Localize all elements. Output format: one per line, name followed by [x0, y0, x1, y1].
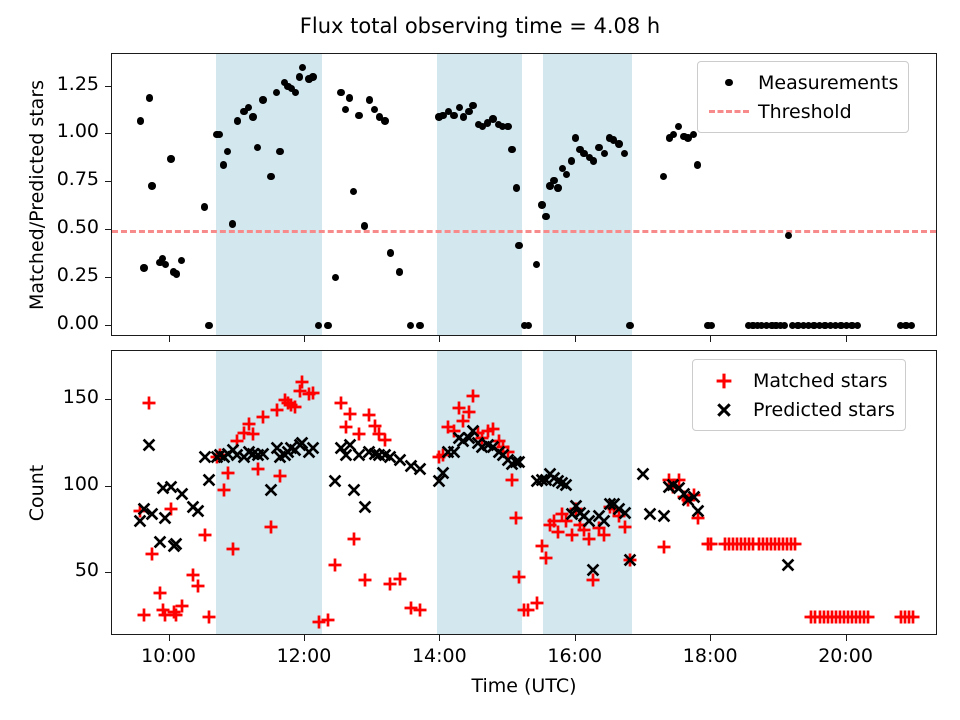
predicted-star-marker	[358, 500, 372, 514]
predicted-star-marker	[636, 467, 650, 481]
measurement-point	[908, 322, 915, 329]
top-y-tick-label: 0.25	[5, 264, 99, 286]
legend-item-threshold: Threshold	[706, 97, 898, 126]
matched-star-marker	[198, 528, 212, 542]
measurement-point	[299, 64, 306, 71]
matched-star-marker	[153, 586, 167, 600]
x-axis-label: Time (UTC)	[111, 675, 937, 697]
predicted-star-marker	[175, 487, 189, 501]
bottom-x-tick-mark	[169, 635, 170, 641]
legend-label-predicted-stars: Predicted stars	[747, 399, 895, 421]
predicted-star-marker	[191, 504, 205, 518]
predicted-star-marker	[512, 455, 526, 469]
top-x-tick-mark	[710, 336, 711, 342]
legend-item-measurements: Measurements	[706, 68, 898, 97]
x-tick-label: 12:00	[244, 645, 364, 667]
top-y-tick-label: 0.00	[5, 312, 99, 334]
measurement-point	[708, 322, 715, 329]
measurement-point	[366, 96, 373, 103]
matched-star-marker	[704, 537, 718, 551]
matched-star-marker	[657, 540, 671, 554]
bottom-y-tick-mark	[105, 399, 111, 400]
top-y-tick-mark	[105, 325, 111, 326]
matched-star-marker	[505, 473, 519, 487]
measurement-point	[332, 274, 339, 281]
measurement-point	[309, 73, 316, 80]
x-tick-label: 14:00	[379, 645, 499, 667]
predicted-star-marker	[687, 490, 701, 504]
measurement-point	[615, 140, 622, 147]
measurement-point	[407, 322, 414, 329]
measurement-point	[533, 261, 540, 268]
x-tick-label: 10:00	[109, 645, 229, 667]
matched-star-marker	[246, 427, 260, 441]
threshold-line	[112, 230, 936, 233]
matched-star-marker	[321, 613, 335, 627]
predicted-star-marker	[597, 514, 611, 528]
legend-label-matched-stars: Matched stars	[747, 370, 887, 392]
legend-label-measurements: Measurements	[752, 72, 898, 94]
measurement-point	[781, 322, 788, 329]
measurement-point	[178, 257, 185, 264]
measurement-point	[601, 150, 608, 157]
top-y-tick-label: 1.00	[5, 120, 99, 142]
measurement-point	[201, 203, 208, 210]
measurement-point	[346, 94, 353, 101]
measurement-point	[660, 173, 667, 180]
measurement-point	[324, 322, 331, 329]
top-y-tick-label: 0.75	[5, 168, 99, 190]
predicted-star-marker	[436, 466, 450, 480]
measurement-point	[292, 89, 299, 96]
measurement-point	[146, 94, 153, 101]
matched-star-marker	[343, 407, 357, 421]
predicted-star-marker	[158, 511, 172, 525]
top-y-tick-mark	[105, 133, 111, 134]
matched-star-marker	[175, 599, 189, 613]
top-y-tick-mark	[105, 86, 111, 87]
top-y-tick-mark	[105, 277, 111, 278]
matched-star-marker	[191, 579, 205, 593]
matched-star-marker	[378, 433, 392, 447]
x-tick-label: 20:00	[786, 645, 906, 667]
matched-star-marker	[328, 558, 342, 572]
top-y-tick-mark	[105, 181, 111, 182]
shaded-span-2	[437, 54, 522, 335]
matched-star-marker	[466, 389, 480, 403]
predicted-star-marker	[306, 441, 320, 455]
measurement-point	[690, 131, 697, 138]
matched-star-marker	[906, 610, 920, 624]
measurement-point	[694, 161, 701, 168]
matched-star-marker	[530, 596, 544, 610]
measurement-point	[140, 264, 147, 271]
measurements-dot-icon	[706, 79, 752, 86]
measurement-point	[350, 188, 357, 195]
predicted-star-marker	[559, 478, 573, 492]
shaded-span-1	[216, 54, 322, 335]
matched-star-marker	[358, 573, 372, 587]
matched-star-marker	[539, 551, 553, 565]
measurement-point	[234, 117, 241, 124]
matched-plus-icon	[701, 372, 747, 390]
predicted-star-marker	[618, 506, 632, 520]
x-tick-label: 16:00	[515, 645, 635, 667]
measurement-point	[296, 73, 303, 80]
predicted-star-marker	[623, 553, 637, 567]
measurement-point	[785, 232, 792, 239]
top-panel-legend[interactable]: Measurements Threshold	[697, 61, 909, 133]
measurement-point	[513, 184, 520, 191]
legend-item-predicted-stars: Predicted stars	[701, 395, 895, 424]
measurement-point	[148, 182, 155, 189]
measurement-point	[342, 106, 349, 113]
predicted-star-marker	[781, 558, 795, 572]
measurement-point	[469, 102, 476, 109]
bottom-x-tick-mark	[846, 635, 847, 641]
predicted-star-marker	[264, 483, 278, 497]
measurement-point	[854, 322, 861, 329]
measurement-point	[396, 268, 403, 275]
matched-star-marker	[393, 572, 407, 586]
measurement-point	[361, 222, 368, 229]
measurement-point	[259, 96, 266, 103]
measurement-point	[554, 184, 561, 191]
matched-star-marker	[618, 520, 632, 534]
measurement-point	[337, 89, 344, 96]
measurement-point	[220, 161, 227, 168]
measurement-point	[670, 131, 677, 138]
matched-star-marker	[217, 483, 231, 497]
bottom-panel-legend[interactable]: Matched stars Predicted stars	[692, 359, 906, 431]
measurement-point	[273, 89, 280, 96]
measurement-point	[173, 270, 180, 277]
matched-star-marker	[202, 610, 216, 624]
matched-star-marker	[597, 528, 611, 542]
measurement-point	[387, 249, 394, 256]
matched-star-marker	[251, 462, 265, 476]
predicted-star-marker	[169, 537, 183, 551]
bottom-y-tick-mark	[105, 572, 111, 573]
shaded-span-3	[543, 351, 632, 634]
bottom-panel-y-axis-label: Count	[26, 464, 48, 520]
bottom-y-tick-mark	[105, 486, 111, 487]
bottom-x-tick-mark	[575, 635, 576, 641]
legend-item-matched-stars: Matched stars	[701, 366, 895, 395]
measurement-point	[249, 113, 256, 120]
measurement-point	[205, 322, 212, 329]
measurement-point	[276, 148, 283, 155]
measurement-point	[508, 146, 515, 153]
measurement-point	[515, 242, 522, 249]
predicted-star-marker	[142, 438, 156, 452]
bottom-x-tick-mark	[304, 635, 305, 641]
measurement-point	[355, 112, 362, 119]
page-title: Flux total observing time = 4.08 h	[0, 14, 960, 38]
matched-star-marker	[137, 608, 151, 622]
predicted-star-marker	[643, 507, 657, 521]
predicted-star-marker	[586, 563, 600, 577]
matched-star-marker	[288, 400, 302, 414]
top-y-tick-label: 0.50	[5, 216, 99, 238]
top-x-tick-mark	[169, 336, 170, 342]
predicted-star-marker	[145, 507, 159, 521]
top-panel-y-axis-label: Matched/Predicted stars	[26, 79, 48, 309]
matched-star-marker	[264, 520, 278, 534]
matched-star-marker	[273, 469, 287, 483]
top-x-tick-mark	[304, 336, 305, 342]
bottom-y-tick-label: 150	[5, 386, 99, 408]
predicted-star-marker	[202, 473, 216, 487]
predicted-star-marker	[153, 535, 167, 549]
matched-star-marker	[306, 386, 320, 400]
measurement-point	[542, 213, 549, 220]
predicted-star-marker	[691, 504, 705, 518]
measurement-point	[381, 117, 388, 124]
matched-star-marker	[256, 410, 270, 424]
measurement-point	[675, 123, 682, 130]
predicted-cross-icon	[701, 401, 747, 419]
measurement-point	[167, 155, 174, 162]
predicted-star-marker	[328, 474, 342, 488]
measurement-point	[371, 106, 378, 113]
measurement-point	[550, 177, 557, 184]
figure-canvas: Flux total observing time = 4.08 h 0.000…	[0, 0, 960, 720]
measurement-point	[137, 117, 144, 124]
matched-star-marker	[221, 466, 235, 480]
matched-star-marker	[413, 603, 427, 617]
matched-star-marker	[861, 610, 875, 624]
legend-label-threshold: Threshold	[752, 101, 852, 123]
x-tick-label: 18:00	[650, 645, 770, 667]
matched-star-marker	[142, 396, 156, 410]
bottom-y-tick-label: 100	[5, 473, 99, 495]
measurement-point	[626, 322, 633, 329]
bottom-x-tick-mark	[710, 635, 711, 641]
matched-star-marker	[226, 542, 240, 556]
top-y-tick-label: 1.25	[5, 73, 99, 95]
top-x-tick-mark	[846, 336, 847, 342]
matched-star-marker	[145, 547, 159, 561]
matched-star-marker	[509, 511, 523, 525]
shaded-span-3	[543, 54, 632, 335]
measurement-point	[450, 112, 457, 119]
top-y-tick-mark	[105, 229, 111, 230]
bottom-x-tick-mark	[439, 635, 440, 641]
matched-star-marker	[788, 537, 802, 551]
matched-star-marker	[347, 532, 361, 546]
bottom-y-tick-label: 50	[5, 559, 99, 581]
measurement-point	[229, 220, 236, 227]
predicted-star-marker	[413, 462, 427, 476]
predicted-star-marker	[657, 509, 671, 523]
measurement-point	[267, 173, 274, 180]
predicted-star-marker	[347, 483, 361, 497]
measurement-point	[416, 322, 423, 329]
measurement-point	[162, 261, 169, 268]
threshold-dashed-line-icon	[706, 110, 752, 113]
predicted-star-marker	[256, 447, 270, 461]
measurement-point	[504, 123, 511, 130]
measurement-point	[538, 201, 545, 208]
matched-star-marker	[512, 570, 526, 584]
matched-star-marker	[339, 420, 353, 434]
matched-star-marker	[462, 405, 476, 419]
measurement-point	[590, 157, 597, 164]
top-x-tick-mark	[439, 336, 440, 342]
measurement-point	[563, 171, 570, 178]
measurement-point	[525, 322, 532, 329]
top-x-tick-mark	[575, 336, 576, 342]
